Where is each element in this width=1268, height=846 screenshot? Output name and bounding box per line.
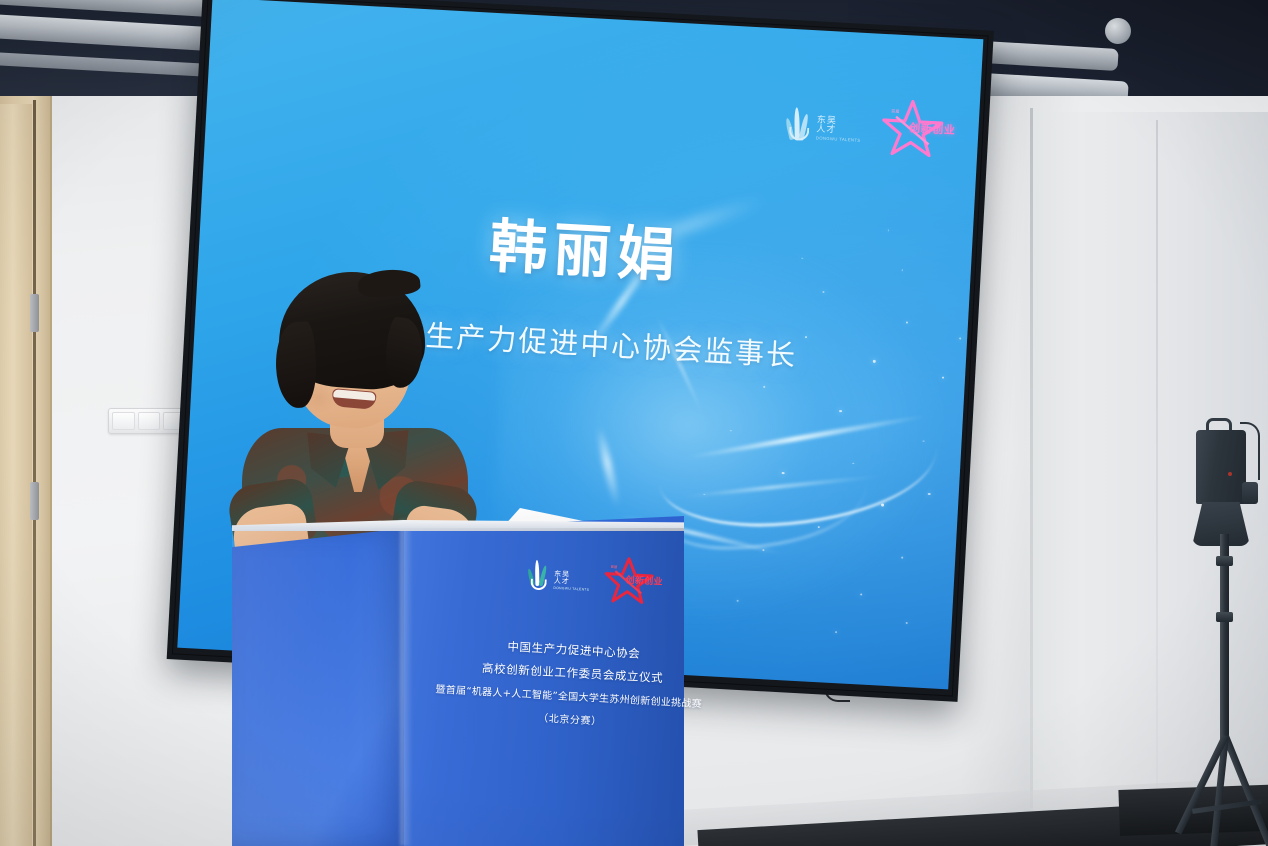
star-logo-tiny-text: 首届 (891, 108, 900, 114)
wooden-door[interactable] (0, 104, 32, 846)
lectern-dongwu-talents-logo: 东吴 人才 DONGWU TALENTS (527, 560, 590, 593)
lectern-logo-group: 东吴 人才 DONGWU TALENTS 首届 创新创业 (527, 551, 663, 606)
dongwu-talents-logo: 东吴 人才 DONGWU TALENTS (785, 102, 863, 144)
stand-pole (1220, 534, 1229, 748)
stand-collar-upper[interactable] (1216, 556, 1233, 566)
leaf-mark-icon (527, 560, 551, 591)
lectern-left-panel (232, 528, 408, 846)
lectern: 东吴 人才 DONGWU TALENTS 首届 创新创业 中国生产力促进中心协会… (232, 498, 684, 846)
lectern-logo-en-text: DONGWU TALENTS (553, 587, 589, 592)
logo-en-text: DONGWU TALENTS (816, 137, 861, 144)
lectern-star-label: 创新创业 (625, 573, 663, 588)
logo-cn-line2: 人才 (816, 124, 861, 136)
stand-collar-lower[interactable] (1216, 612, 1233, 622)
lectern-signage: 中国生产力促进中心协会 高校创新创业工作委员会成立仪式 暨首届“机器人+人工智能… (458, 636, 686, 732)
event-photo: 东吴 人才 DONGWU TALENTS 首届 创新创业 韩丽娟 中国生产力促进… (0, 0, 1268, 846)
studio-light-stand (1186, 406, 1268, 846)
star-competition-logo: 首届 创新创业 (880, 96, 957, 160)
presenter-hair-left (274, 321, 318, 409)
wall-seam (1156, 120, 1158, 810)
switch-key-2[interactable] (138, 412, 161, 430)
leaf-mark-icon (785, 102, 813, 141)
door-hinge-lower (30, 482, 39, 520)
presenter-teeth (333, 389, 376, 401)
light-switch-plate[interactable] (108, 408, 190, 434)
lectern-star-logo: 首届 创新创业 (603, 555, 663, 606)
star-logo-label: 创新创业 (909, 119, 956, 137)
lamp-indicator-light (1228, 472, 1232, 476)
presenter-hair-wisp (357, 267, 421, 299)
lamp-housing (1196, 430, 1246, 504)
door-gap (33, 100, 36, 846)
switch-key-1[interactable] (112, 412, 135, 430)
lectern-crease (400, 520, 412, 846)
door-hinge-upper (30, 294, 39, 332)
lamp-adjust-knob[interactable] (1242, 482, 1258, 504)
tripod-leg (1222, 735, 1268, 846)
lectern-star-tiny-text: 首届 (610, 564, 617, 569)
lamp-cable (1240, 422, 1260, 480)
screen-logo-group: 东吴 人才 DONGWU TALENTS 首届 创新创业 (784, 91, 957, 160)
